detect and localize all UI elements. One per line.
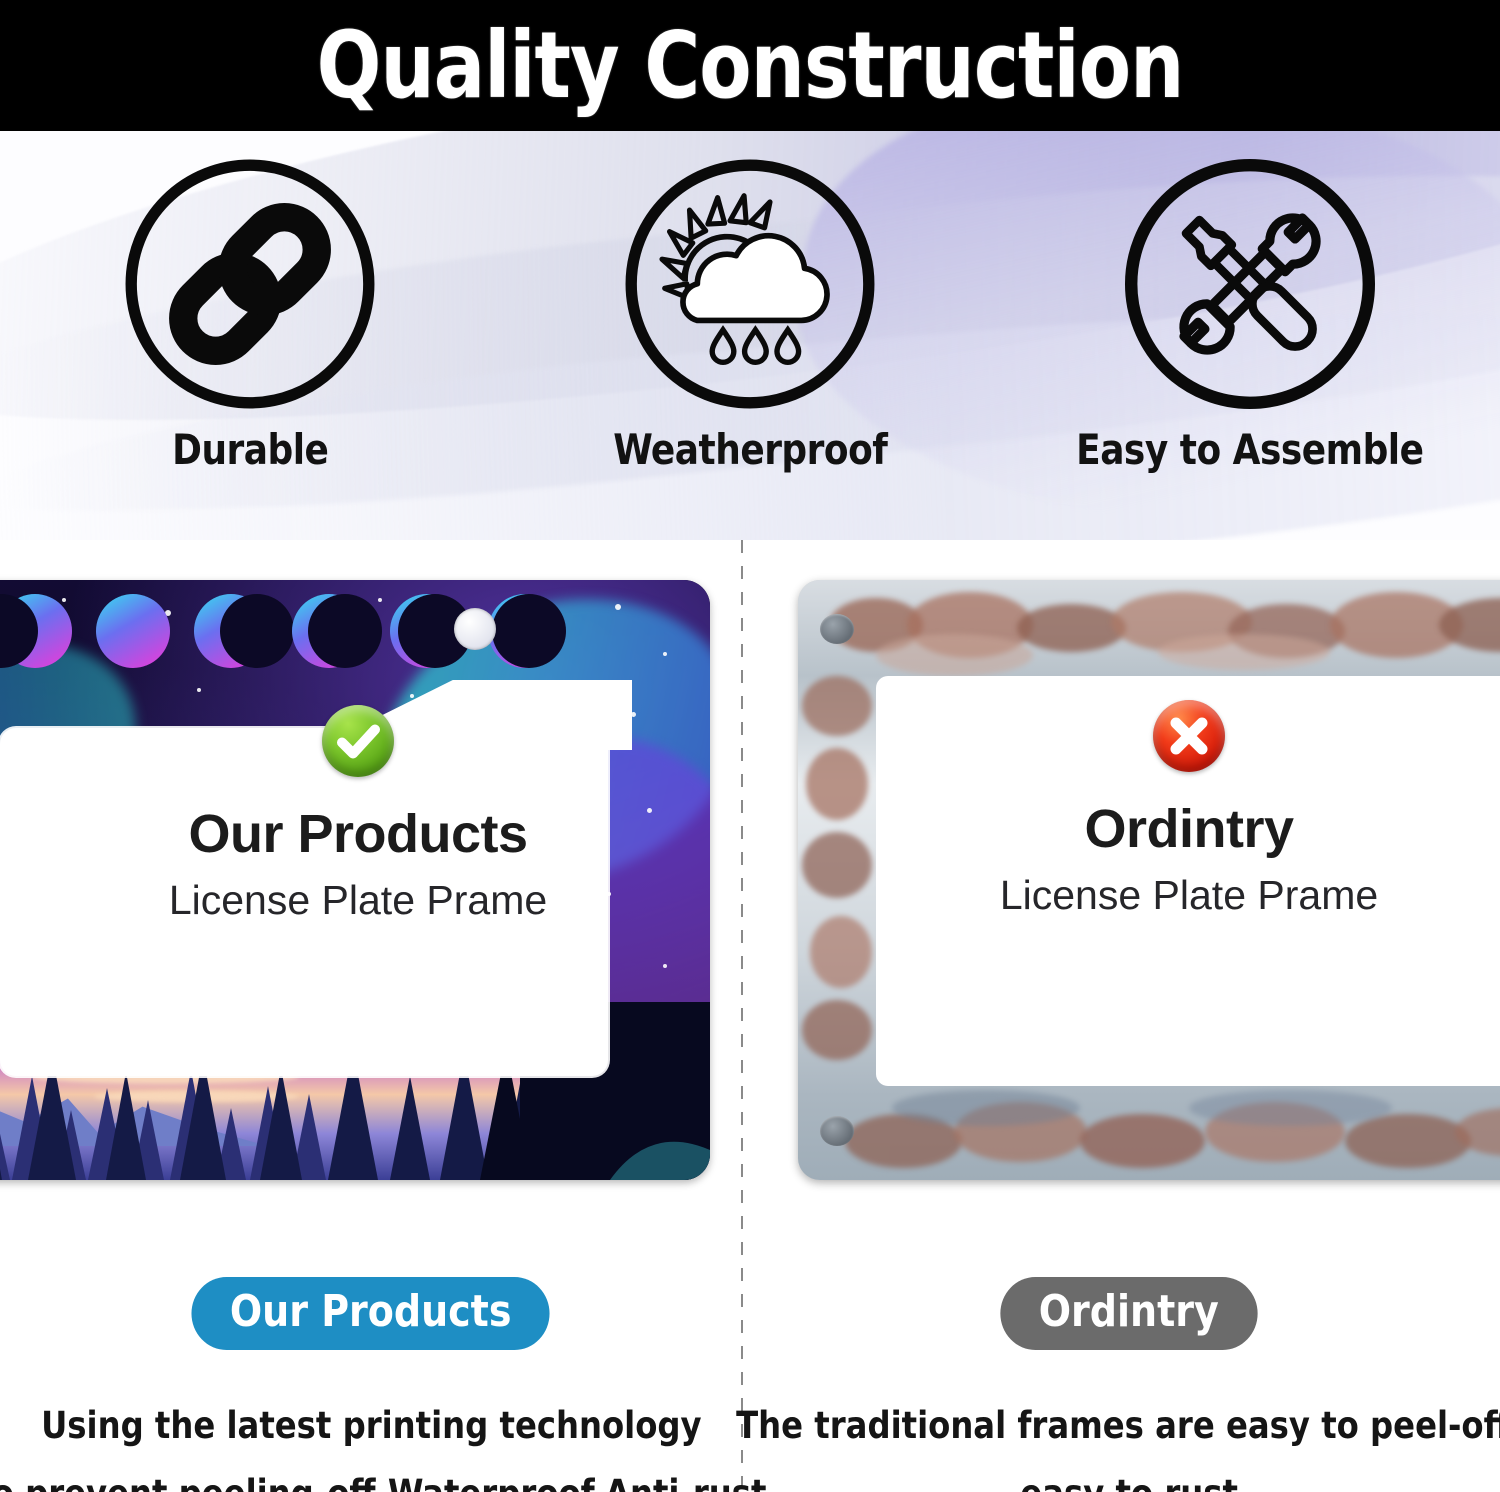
sun-cloud-rain-icon bbox=[615, 149, 885, 419]
our-products-pill-badge: Our Products bbox=[192, 1277, 550, 1350]
ordinary-product-title: Ordintry bbox=[1084, 798, 1293, 860]
our-product-label-group: Our Products License Plate Prame bbox=[0, 705, 716, 924]
comparison-section: Our Products License Plate Prame bbox=[0, 540, 1500, 1492]
wrench-screwdriver-icon bbox=[1115, 149, 1385, 419]
feature-easy-to-assemble: Easy to Assemble bbox=[1030, 149, 1470, 474]
page-title: Quality Construction bbox=[317, 20, 1184, 112]
feature-label: Weatherproof bbox=[613, 425, 887, 474]
caption-line-1: The traditional frames are easy to peel-… bbox=[736, 1404, 1500, 1447]
feature-label: Easy to Assemble bbox=[1076, 425, 1423, 474]
red-x-badge-icon bbox=[1153, 700, 1225, 772]
chain-link-icon bbox=[115, 149, 385, 419]
our-product-title: Our Products bbox=[188, 803, 527, 865]
ordinary-product-caption-text: The traditional frames are easy to peel-… bbox=[736, 1392, 1500, 1492]
feature-durable: Durable bbox=[30, 149, 470, 474]
caption-line-2: to prevent peeling-off.Waterproof,Anti-r… bbox=[0, 1460, 766, 1492]
our-product-caption-text: Using the latest printing technology to … bbox=[0, 1392, 766, 1492]
caption-line-1: Using the latest printing technology bbox=[41, 1404, 701, 1447]
moon-phase-row bbox=[0, 594, 710, 674]
feature-weatherproof: Weatherproof bbox=[530, 149, 970, 474]
feature-label: Durable bbox=[172, 425, 328, 474]
ordinary-product-caption: Ordintry The traditional frames are easy… bbox=[758, 1277, 1500, 1492]
caption-line-2: easy to rust bbox=[736, 1460, 1500, 1492]
green-check-badge-icon bbox=[322, 705, 394, 777]
screw-hole-bottom-left bbox=[820, 1116, 854, 1146]
mounting-hole bbox=[454, 608, 496, 650]
product-infographic: Quality Construction Durable bbox=[0, 0, 1500, 1492]
screw-hole-top-left bbox=[820, 614, 854, 644]
feature-strip: Durable bbox=[0, 131, 1500, 540]
our-product-subtitle: License Plate Prame bbox=[169, 877, 547, 924]
our-product-caption: Our Products Using the latest printing t… bbox=[0, 1277, 742, 1492]
header-banner: Quality Construction bbox=[0, 0, 1500, 131]
ordintry-pill-badge: Ordintry bbox=[1001, 1277, 1258, 1350]
ordinary-product-label-group: Ordintry License Plate Prame bbox=[798, 700, 1500, 919]
ordinary-product-subtitle: License Plate Prame bbox=[1000, 872, 1378, 919]
